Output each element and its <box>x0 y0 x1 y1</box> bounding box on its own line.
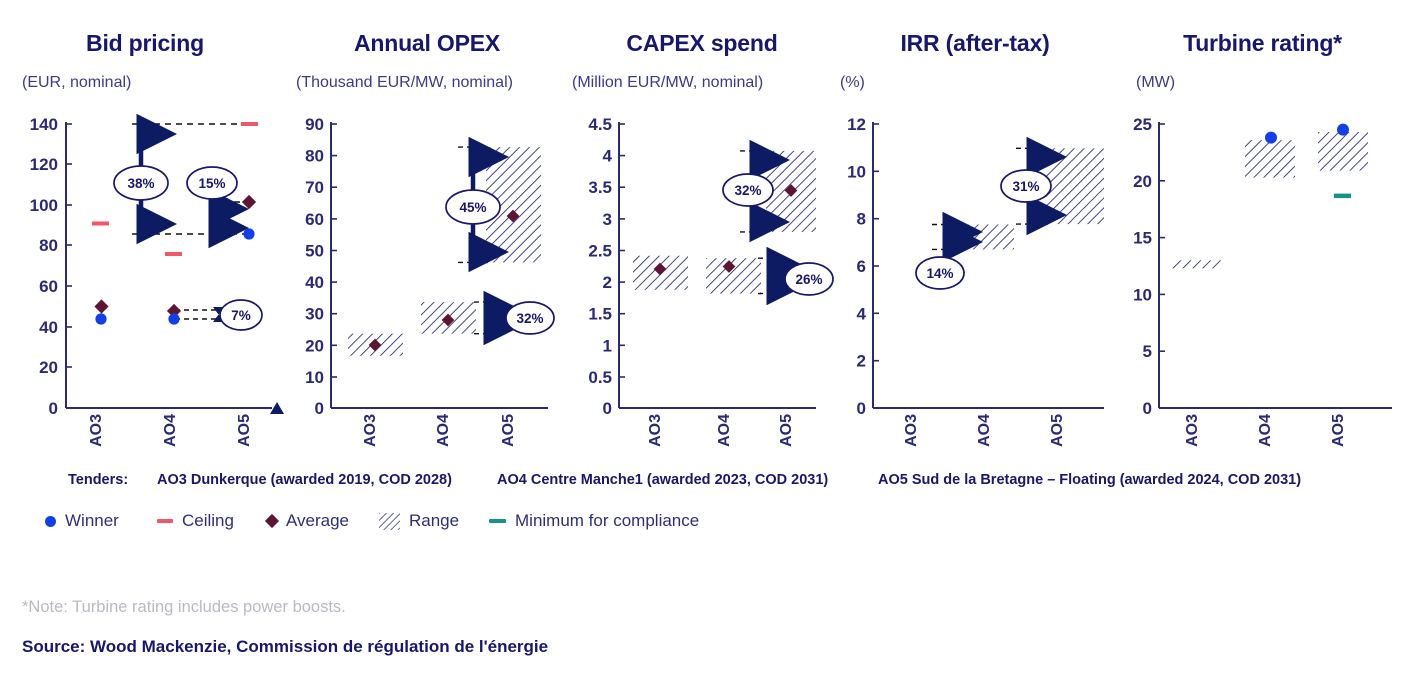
x-tick-label: AO3 <box>647 414 664 447</box>
legend-label-ceiling: Ceiling <box>182 511 234 531</box>
chart-unit-capex-spend: (Million EUR/MW, nominal) <box>572 74 763 92</box>
series-legend-row: Winner Ceiling Average Range Minimum for… <box>0 511 1411 539</box>
y-tick-label: 90 <box>305 115 324 134</box>
tender-ao4: AO4 Centre Manche1 (awarded 2023, COD 20… <box>497 472 828 488</box>
delta-label-38: 38% <box>127 176 154 191</box>
y-tick-label: 80 <box>305 147 324 166</box>
y-tick-label: 10 <box>305 368 324 387</box>
chart-svg-turbine-rating: 25 20 15 10 5 0 AO3 AO4 AO5 <box>1114 0 1411 465</box>
x-tick-label: AO3 <box>1184 414 1201 447</box>
y-tick-label: 40 <box>39 318 58 337</box>
legend-label-minimum: Minimum for compliance <box>515 511 699 531</box>
legend-item-ceiling[interactable]: Ceiling <box>157 511 234 531</box>
x-tick-label: AO3 <box>88 414 105 447</box>
x-axis-arrow-icon <box>270 402 284 414</box>
source-text: Source: Wood Mackenzie, Commission de ré… <box>22 637 548 657</box>
y-tick-label: 100 <box>30 196 58 215</box>
y-tick-label: 15 <box>1133 229 1152 248</box>
legend-label-range: Range <box>409 511 459 531</box>
ceiling-marker <box>241 122 258 126</box>
average-marker <box>242 195 256 209</box>
chart-unit-annual-opex: (Thousand EUR/MW, nominal) <box>296 74 513 92</box>
y-tick-label: 4 <box>857 304 867 323</box>
legend-item-winner[interactable]: Winner <box>45 511 119 531</box>
y-tick-label: 5 <box>1143 342 1152 361</box>
y-tick-label: 70 <box>305 178 324 197</box>
chart-unit-bid-pricing: (EUR, nominal) <box>22 74 131 92</box>
x-tick-label: AO4 <box>976 414 993 447</box>
range-box-ao5 <box>1046 148 1104 224</box>
x-tick-label: AO5 <box>236 414 253 447</box>
dot-marker-icon <box>45 516 56 527</box>
delta-label-45: 45% <box>459 200 486 215</box>
chart-svg-capex-spend: 4.5 4 3.5 3 2.5 2 1.5 1 0.5 0 32% 26 <box>568 0 836 465</box>
ceiling-marker <box>92 222 109 226</box>
hatch-swatch-icon <box>379 513 400 530</box>
tender-ao5: AO5 Sud de la Bretagne – Floating (award… <box>878 472 1301 488</box>
chart-panel-irr: IRR (after-tax) (%) 12 <box>836 0 1114 465</box>
y-tick-label: 2 <box>857 352 866 371</box>
delta-label-15: 15% <box>198 176 225 191</box>
chart-svg-bid-pricing: 140 120 100 80 60 40 20 0 38% 15% 7 <box>0 0 290 465</box>
charts-container: Bid pricing (EUR, nominal) <box>0 0 1411 465</box>
y-tick-label: 2 <box>603 273 612 292</box>
range-box-ao4 <box>706 258 761 293</box>
y-tick-label: 140 <box>30 115 58 134</box>
chart-unit-turbine-rating: (MW) <box>1136 74 1175 92</box>
chart-panel-bid-pricing: Bid pricing (EUR, nominal) <box>0 0 290 465</box>
x-tick-label: AO4 <box>162 414 179 447</box>
y-tick-label: 80 <box>39 236 58 255</box>
y-tick-label: 60 <box>39 277 58 296</box>
x-tick-label: AO4 <box>1257 414 1274 447</box>
x-tick-label: AO5 <box>1330 414 1347 447</box>
chart-title-annual-opex: Annual OPEX <box>282 30 572 57</box>
chart-title-turbine-rating: Turbine rating* <box>1114 30 1411 57</box>
y-tick-label: 3 <box>603 210 612 229</box>
legend-label-average: Average <box>286 511 349 531</box>
y-tick-label: 1 <box>603 336 612 355</box>
delta-label-7: 7% <box>231 308 251 323</box>
x-tick-label: AO3 <box>362 414 379 447</box>
tenders-label: Tenders: <box>68 472 128 488</box>
winner-marker <box>1265 132 1277 144</box>
legend-item-minimum[interactable]: Minimum for compliance <box>489 511 699 531</box>
diamond-marker-icon <box>265 514 279 528</box>
delta-label-32: 32% <box>516 311 543 326</box>
y-tick-label: 12 <box>847 115 866 134</box>
range-box-ao4 <box>1245 140 1295 178</box>
y-tick-label: 50 <box>305 242 324 261</box>
y-tick-label: 60 <box>305 210 324 229</box>
chart-panel-annual-opex: Annual OPEX (Thousand EUR/MW, nominal) <box>290 0 568 465</box>
legend-item-average[interactable]: Average <box>267 511 349 531</box>
x-tick-label: AO4 <box>435 414 452 447</box>
y-tick-label: 10 <box>1133 285 1152 304</box>
y-tick-label: 8 <box>857 210 866 229</box>
chart-panel-turbine-rating: Turbine rating* (MW) 25 20 15 10 5 <box>1114 0 1411 465</box>
footnote-text: *Note: Turbine rating includes power boo… <box>22 598 346 617</box>
chart-panel-capex-spend: CAPEX spend (Million EUR/MW, nominal) <box>568 0 836 465</box>
delta-label-26: 26% <box>795 272 822 287</box>
x-tick-label: AO5 <box>778 414 795 447</box>
x-tick-label: AO4 <box>716 414 733 447</box>
chart-title-bid-pricing: Bid pricing <box>0 30 290 57</box>
chart-unit-irr: (%) <box>840 74 865 92</box>
y-tick-label: 0 <box>315 399 324 418</box>
y-tick-label: 0 <box>857 399 866 418</box>
average-marker <box>94 299 108 313</box>
chart-svg-annual-opex: 90 80 70 60 50 40 30 20 10 0 45% 32% <box>290 0 568 465</box>
y-tick-label: 25 <box>1133 115 1152 134</box>
y-tick-label: 0 <box>603 399 612 418</box>
delta-label-14: 14% <box>926 266 953 281</box>
dash-marker-icon <box>157 519 173 523</box>
x-tick-label: AO3 <box>903 414 920 447</box>
x-tick-label: AO5 <box>1049 414 1066 447</box>
legend-item-range[interactable]: Range <box>379 511 459 531</box>
y-tick-label: 0 <box>1143 399 1152 418</box>
winner-marker <box>1337 124 1349 136</box>
winner-marker <box>95 313 106 324</box>
y-tick-label: 4 <box>603 147 613 166</box>
y-tick-label: 0 <box>49 399 58 418</box>
delta-label-31: 31% <box>1012 179 1039 194</box>
teal-dash-marker-icon <box>489 519 506 524</box>
chart-title-capex-spend: CAPEX spend <box>568 30 836 57</box>
y-tick-label: 20 <box>1133 172 1152 191</box>
tender-ao3: AO3 Dunkerque (awarded 2019, COD 2028) <box>157 472 452 488</box>
y-tick-label: 20 <box>305 336 324 355</box>
y-tick-label: 30 <box>305 305 324 324</box>
legend-label-winner: Winner <box>65 511 119 531</box>
y-tick-label: 0.5 <box>588 368 612 387</box>
chart-title-irr: IRR (after-tax) <box>836 30 1114 57</box>
y-tick-label: 4.5 <box>588 115 612 134</box>
range-box-ao3 <box>1172 260 1222 268</box>
y-tick-label: 40 <box>305 273 324 292</box>
minimum-compliance-marker <box>1334 194 1351 199</box>
tenders-legend-row: Tenders: AO3 Dunkerque (awarded 2019, CO… <box>0 472 1411 496</box>
delta-label-32: 32% <box>734 183 761 198</box>
y-tick-label: 1.5 <box>588 305 612 324</box>
winner-marker <box>243 228 254 239</box>
y-tick-label: 3.5 <box>588 178 612 197</box>
y-tick-label: 20 <box>39 358 58 377</box>
y-tick-label: 120 <box>30 155 58 174</box>
x-tick-label: AO5 <box>500 414 517 447</box>
y-tick-label: 10 <box>847 162 866 181</box>
chart-svg-irr: 12 10 8 6 4 2 0 14% 31% AO3 AO4 AO5 <box>836 0 1114 465</box>
range-box-ao4 <box>964 225 1014 250</box>
y-tick-label: 6 <box>857 257 866 276</box>
y-tick-label: 2.5 <box>588 242 612 261</box>
ceiling-marker <box>165 252 182 256</box>
range-box-ao5 <box>1318 132 1368 171</box>
winner-marker <box>168 313 179 324</box>
